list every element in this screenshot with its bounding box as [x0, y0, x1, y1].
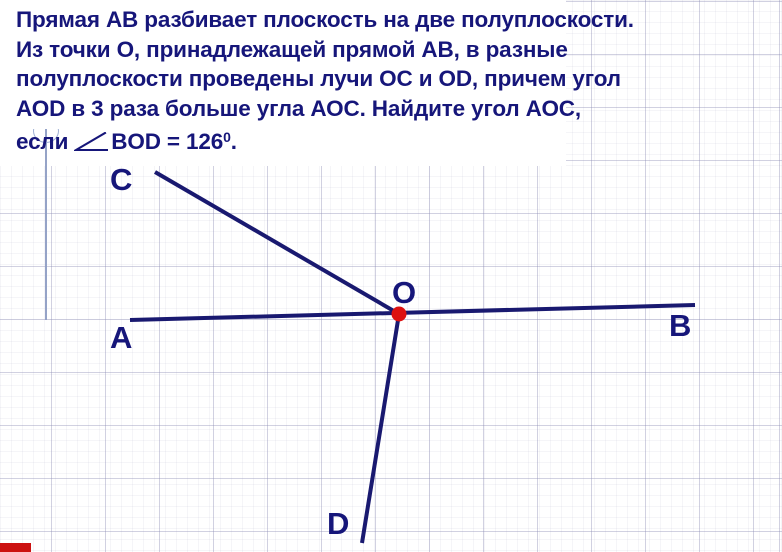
- geometry-figure: [0, 0, 782, 552]
- segment-ray-OC: [155, 172, 399, 314]
- segment-ray-OD: [362, 314, 399, 543]
- red-marker-bar: [0, 543, 31, 552]
- point-label-O: О: [392, 277, 416, 308]
- point-label-B: В: [669, 310, 691, 341]
- point-label-A: А: [110, 322, 132, 353]
- point-label-D: D: [327, 508, 349, 539]
- point-label-C: С: [110, 164, 132, 195]
- slide-canvas: Прямая АВ разбивает плоскость на две пол…: [0, 0, 782, 552]
